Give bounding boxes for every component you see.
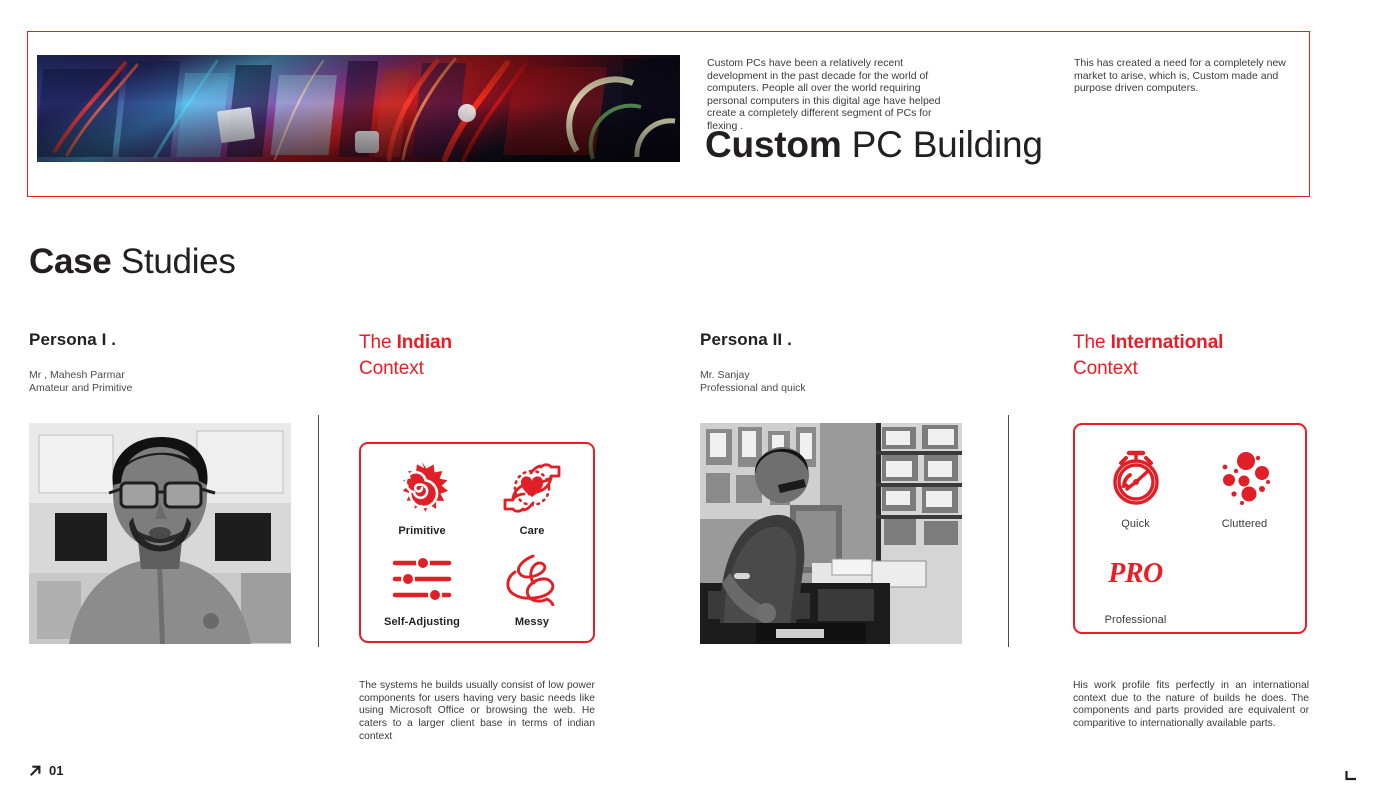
scattered-dots-icon — [1216, 444, 1274, 512]
column-international-context: The International Context — [1073, 330, 1313, 382]
international-heading-bold: International — [1111, 332, 1224, 353]
hero-title: Custom PC Building — [705, 126, 1043, 165]
persona-one-descriptor: Amateur and Primitive — [29, 382, 291, 395]
persona-two-photo-art — [700, 423, 962, 644]
hero-title-light: PC Building — [842, 124, 1043, 165]
trait-quick: Quick — [1081, 434, 1190, 530]
persona-one-photo-art — [29, 423, 291, 644]
header-panel: Custom PCs have been a relatively recent… — [27, 31, 1310, 197]
persona-one-subtitle: Mr , Mahesh Parmar Amateur and Primitive — [29, 369, 291, 394]
divider-two — [1008, 415, 1009, 647]
trait-professional: PRO Professional — [1081, 530, 1190, 626]
pro-wordmark-text: PRO — [1108, 558, 1163, 590]
trait-care-label: Care — [520, 525, 545, 537]
international-traits-card: Quick — [1073, 423, 1307, 634]
trait-quick-label: Quick — [1121, 518, 1150, 530]
persona-two-name: Mr. Sanjay — [700, 369, 962, 382]
trait-self-adjusting: Self-Adjusting — [367, 544, 477, 635]
hero-image — [37, 55, 680, 162]
header-intro-right: This has created a need for a completely… — [1074, 57, 1289, 95]
hero-title-bold: Custom — [705, 124, 842, 165]
arrow-up-right-icon — [29, 764, 42, 777]
indian-heading-bold: Indian — [397, 332, 452, 353]
international-context-body: His work profile fits perfectly in an in… — [1073, 680, 1309, 731]
indian-heading-line2: Context — [359, 358, 424, 379]
indian-traits-grid: Primitive — [361, 444, 593, 641]
page-title-light: Studies — [111, 242, 235, 281]
persona-two-photo — [700, 423, 962, 644]
divider-one — [318, 415, 319, 647]
indian-heading-light: The — [359, 332, 397, 353]
persona-one-heading: Persona I . — [29, 330, 291, 350]
pro-wordmark-icon: PRO — [1108, 540, 1163, 608]
international-context-heading: The International Context — [1073, 330, 1313, 382]
trait-primitive-label: Primitive — [398, 525, 445, 537]
indian-traits-card: Primitive — [359, 442, 595, 643]
international-heading-light: The — [1073, 332, 1111, 353]
trait-messy-label: Messy — [515, 616, 549, 628]
trait-primitive: Primitive — [367, 453, 477, 544]
hands-heart-icon — [501, 457, 563, 519]
international-traits-grid: Quick — [1075, 425, 1305, 632]
column-indian-context: The Indian Context — [359, 330, 599, 382]
trait-self-adjusting-label: Self-Adjusting — [384, 616, 460, 628]
header-intro-left: Custom PCs have been a relatively recent… — [707, 57, 947, 133]
page-number: 01 — [49, 763, 63, 778]
corner-mark-icon — [1345, 768, 1358, 779]
page-title: Case Studies — [29, 243, 236, 282]
trait-messy: Messy — [477, 544, 587, 635]
international-heading-line2: Context — [1073, 358, 1138, 379]
indian-context-body: The systems he builds usually consist of… — [359, 680, 595, 744]
persona-two-descriptor: Professional and quick — [700, 382, 962, 395]
persona-one-photo — [29, 423, 291, 644]
trait-care: Care — [477, 453, 587, 544]
slide-page: Custom PCs have been a relatively recent… — [0, 0, 1400, 788]
footer: 01 — [29, 763, 63, 778]
trait-cluttered-label: Cluttered — [1222, 518, 1268, 530]
stopwatch-icon — [1107, 444, 1165, 512]
indian-context-heading: The Indian Context — [359, 330, 599, 382]
trait-professional-label: Professional — [1105, 614, 1167, 626]
persona-two-heading: Persona II . — [700, 330, 962, 350]
persona-one-name: Mr , Mahesh Parmar — [29, 369, 291, 382]
column-persona-one: Persona I . Mr , Mahesh Parmar Amateur a… — [29, 330, 291, 394]
trait-cluttered: Cluttered — [1190, 434, 1299, 530]
page-title-bold: Case — [29, 242, 111, 281]
persona-two-subtitle: Mr. Sanjay Professional and quick — [700, 369, 962, 394]
hero-image-art — [37, 55, 680, 162]
column-persona-two: Persona II . Mr. Sanjay Professional and… — [700, 330, 962, 394]
scribble-icon — [503, 548, 561, 610]
sliders-icon — [390, 548, 454, 610]
sun-spiral-icon — [394, 457, 450, 519]
